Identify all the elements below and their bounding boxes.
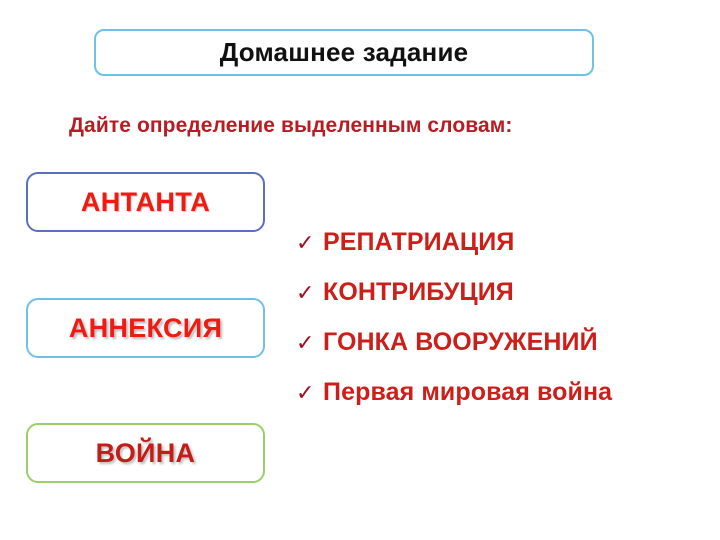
- check-icon: ✓: [296, 382, 323, 404]
- list-item: ✓ Первая мировая война: [296, 378, 706, 428]
- list-item: ✓ КОНТРИБУЦИЯ: [296, 278, 706, 328]
- list-item-label: РЕПАТРИАЦИЯ: [323, 228, 514, 257]
- list-item-label: Первая мировая война: [323, 378, 612, 407]
- instruction-text: Дайте определение выделенным словам:: [69, 114, 513, 138]
- term-label: АНТАНТА: [81, 187, 210, 218]
- title-banner: Домашнее задание: [94, 29, 594, 76]
- term-label: ВОЙНА: [96, 438, 196, 469]
- term-box-voyna: ВОЙНА: [26, 423, 265, 483]
- term-label: АННЕКСИЯ: [69, 313, 222, 344]
- term-checklist: ✓ РЕПАТРИАЦИЯ ✓ КОНТРИБУЦИЯ ✓ ГОНКА ВООР…: [296, 228, 706, 428]
- term-box-antanta: АНТАНТА: [26, 172, 265, 232]
- list-item-label: ГОНКА ВООРУЖЕНИЙ: [323, 328, 598, 357]
- page-title: Домашнее задание: [220, 37, 469, 68]
- term-box-anneksiya: АННЕКСИЯ: [26, 298, 265, 358]
- list-item-label: КОНТРИБУЦИЯ: [323, 278, 514, 307]
- check-icon: ✓: [296, 282, 323, 304]
- check-icon: ✓: [296, 232, 323, 254]
- list-item: ✓ ГОНКА ВООРУЖЕНИЙ: [296, 328, 706, 378]
- list-item: ✓ РЕПАТРИАЦИЯ: [296, 228, 706, 278]
- check-icon: ✓: [296, 332, 323, 354]
